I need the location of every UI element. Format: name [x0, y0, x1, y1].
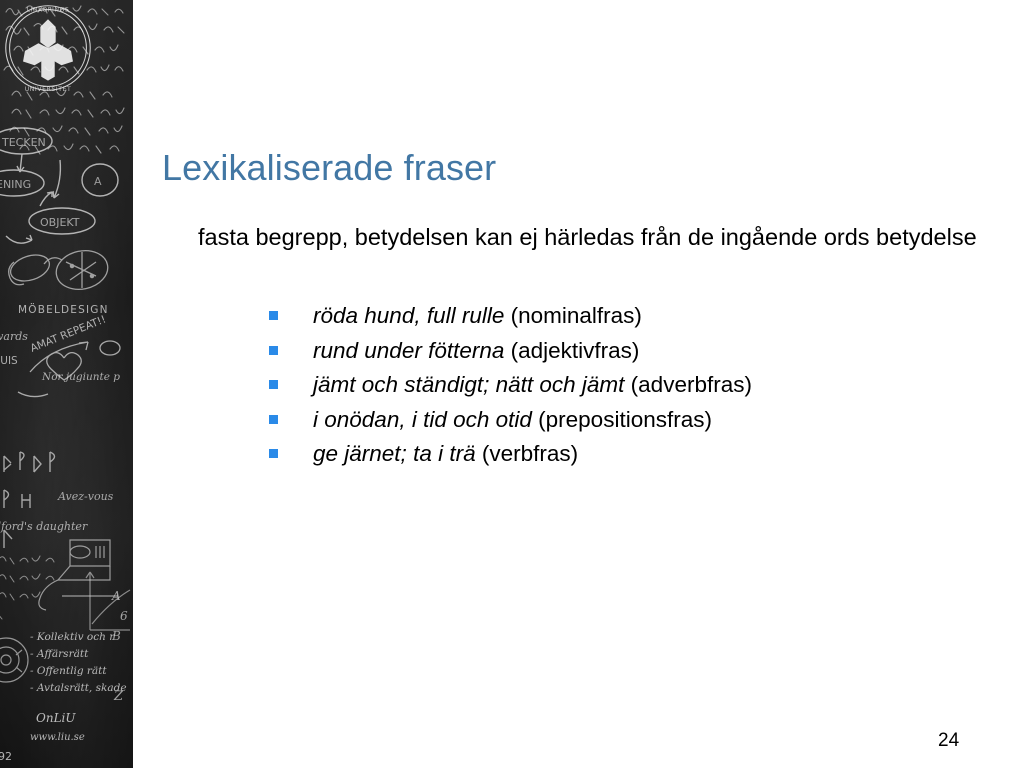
svg-text:- Offentlig rätt: - Offentlig rätt: [30, 665, 107, 677]
svg-text:A: A: [94, 175, 102, 188]
phrase-example: jämt och ständigt; nätt och jämt: [313, 372, 624, 397]
chalk-drawings-icon: TECKEN ENING OBJEKT A MÖBELDESIGN wards …: [0, 0, 133, 768]
chalkboard-decorative-strip: TECKEN ENING OBJEKT A MÖBELDESIGN wards …: [0, 0, 133, 768]
svg-text:www.liu.se: www.liu.se: [30, 732, 85, 743]
svg-text:B: B: [111, 629, 121, 643]
bullet-square-icon: [269, 380, 278, 389]
svg-text:MÖBELDESIGN: MÖBELDESIGN: [18, 303, 109, 316]
page-number: 24: [938, 730, 959, 752]
linkopings-universitet-logo-icon: LINKÖPINGS UNIVERSITET: [0, 0, 96, 96]
bullet-square-icon: [269, 311, 278, 320]
svg-text:6: 6: [120, 609, 128, 623]
list-item: i onödan, i tid och otid (prepositionsfr…: [268, 406, 968, 441]
bullet-square-icon: [269, 415, 278, 424]
phrase-category: (adjektivfras): [504, 338, 639, 363]
svg-text:dford's daughter: dford's daughter: [0, 520, 88, 533]
svg-text:- Kollektiv och r: - Kollektiv och r: [30, 631, 115, 643]
svg-text:Avez-vous: Avez-vous: [57, 490, 114, 503]
svg-text:OBJEKT: OBJEKT: [40, 216, 80, 229]
svg-text:wards: wards: [0, 330, 28, 343]
bullet-square-icon: [269, 449, 278, 458]
intro-paragraph: fasta begrepp, betydelsen kan ej härleda…: [198, 222, 978, 253]
phrase-examples-list: röda hund, full rulle (nominalfras) rund…: [268, 302, 968, 475]
svg-text:Nor jugiunte p: Nor jugiunte p: [41, 371, 120, 383]
phrase-category: (prepositionsfras): [532, 407, 712, 432]
phrase-category: (verbfras): [476, 441, 579, 466]
svg-text:LINKÖPINGS: LINKÖPINGS: [27, 5, 70, 14]
bullet-square-icon: [269, 346, 278, 355]
svg-text:TECKEN: TECKEN: [1, 136, 46, 149]
svg-text:OnLiU: OnLiU: [36, 711, 76, 725]
page-title: Lexikaliserade fraser: [162, 146, 962, 190]
slide-canvas: TECKEN ENING OBJEKT A MÖBELDESIGN wards …: [0, 0, 1024, 768]
svg-text:- Affärsrätt: - Affärsrätt: [30, 648, 89, 660]
phrase-category: (nominalfras): [504, 303, 642, 328]
svg-text:- Avtalsrätt, skade: - Avtalsrätt, skade: [30, 682, 127, 694]
phrase-example: rund under fötterna: [313, 338, 504, 363]
list-item: ge järnet; ta i trä (verbfras): [268, 440, 968, 475]
svg-text:Z: Z: [113, 689, 124, 704]
svg-text:AMAT REPEAT!!: AMAT REPEAT!!: [29, 314, 108, 355]
list-item: rund under fötterna (adjektivfras): [268, 337, 968, 372]
svg-text:UNIVERSITET: UNIVERSITET: [25, 86, 72, 93]
phrase-example: röda hund, full rulle: [313, 303, 504, 328]
svg-text:QUIS: QUIS: [0, 355, 18, 367]
phrase-category: (adverbfras): [624, 372, 752, 397]
phrase-example: i onödan, i tid och otid: [313, 407, 532, 432]
phrase-example: ge järnet; ta i trä: [313, 441, 476, 466]
svg-text:ENING: ENING: [0, 178, 31, 191]
svg-text:92: 92: [0, 750, 12, 763]
list-item: röda hund, full rulle (nominalfras): [268, 302, 968, 337]
svg-text:A: A: [111, 589, 121, 603]
list-item: jämt och ständigt; nätt och jämt (adverb…: [268, 371, 968, 406]
